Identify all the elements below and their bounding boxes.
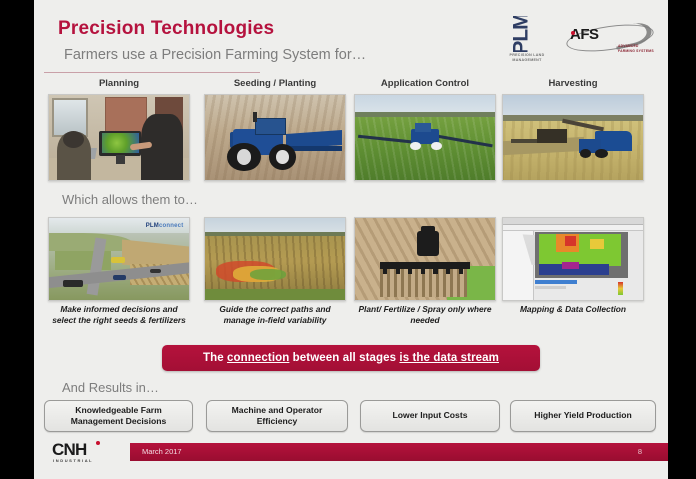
result-label: Machine and Operator Efficiency	[207, 405, 347, 427]
result-box-knowledgeable-farm-management: Knowledgeable Farm Management Decisions	[44, 400, 193, 432]
result-box-lower-input-costs: Lower Input Costs	[360, 400, 500, 432]
plm-logo-mark: PLM	[507, 16, 537, 52]
photo-combine-harvester	[502, 94, 644, 181]
presentation-slide: Precision Technologies Farmers use a Pre…	[34, 0, 668, 479]
result-label: Higher Yield Production	[530, 410, 635, 421]
stage-caption-application: Plant/ Fertilize / Spray only where need…	[354, 304, 496, 326]
stage-heading-application: Application Control	[354, 78, 496, 89]
cnh-logo-sub: INDUSTRIAL	[53, 458, 93, 463]
slide-subtitle: Farmers use a Precision Farming System f…	[64, 47, 366, 63]
result-box-machine-operator-efficiency: Machine and Operator Efficiency	[206, 400, 348, 432]
stage-heading-harvesting: Harvesting	[502, 78, 644, 89]
footer-page-number: 8	[638, 447, 642, 456]
stage-caption-planning: Make informed decisions and select the r…	[48, 304, 190, 326]
stage-caption-harvesting: Mapping & Data Collection	[502, 304, 644, 315]
banner-underline-data-stream: is the data stream	[399, 352, 499, 364]
banner-text-part1: The	[203, 352, 227, 364]
photo-sprayer-boom	[354, 94, 496, 181]
image-field-guidance-map	[204, 217, 346, 301]
result-label: Lower Input Costs	[389, 410, 472, 421]
photo-office-computer	[48, 94, 190, 181]
title-divider	[44, 72, 260, 73]
banner-underline-connection: connection	[227, 352, 289, 364]
afs-logo-dot-icon	[571, 31, 575, 35]
banner-text-part2: between all stages	[289, 352, 399, 364]
image-section-control-diagram	[354, 217, 496, 301]
plm-logo: PLM PRECISION LAND MANAGEMENT	[501, 14, 553, 62]
footer-date: March 2017	[142, 447, 182, 456]
plm-logo-tagline: PRECISION LAND MANAGEMENT	[501, 53, 553, 64]
image-mapping-software	[502, 217, 644, 301]
footer-bar: March 2017 8	[130, 443, 668, 461]
afs-logo-tagline: ADVANCED FARMING SYSTEMS	[618, 44, 656, 55]
screenshot-viewport: Precision Technologies Farmers use a Pre…	[0, 0, 696, 479]
section-label-and-results: And Results in…	[62, 380, 159, 395]
cnh-logo-dot-icon	[96, 441, 100, 445]
result-box-higher-yield-production: Higher Yield Production	[510, 400, 656, 432]
stage-heading-seeding: Seeding / Planting	[204, 78, 346, 89]
slide-canvas: Precision Technologies Farmers use a Pre…	[34, 6, 668, 471]
section-label-which-allows: Which allows them to…	[62, 192, 198, 207]
result-label: Knowledgeable Farm Management Decisions	[45, 405, 192, 427]
photo-tractor-seeder	[204, 94, 346, 181]
afs-logo: AFS ADVANCED FARMING SYSTEMS	[562, 18, 656, 58]
cnh-industrial-logo: CNH INDUSTRIAL	[52, 440, 118, 464]
slide-title: Precision Technologies	[58, 18, 274, 40]
image-plm-connect-illustration: PLMconnect	[48, 217, 190, 301]
stage-heading-planning: Planning	[48, 78, 190, 89]
stage-caption-seeding: Guide the correct paths and manage in-fi…	[204, 304, 346, 326]
data-stream-banner: The connection between all stages is the…	[162, 345, 540, 371]
plm-logo-letters: PLM	[510, 16, 534, 52]
cnh-logo-mark: CNH	[52, 440, 86, 460]
